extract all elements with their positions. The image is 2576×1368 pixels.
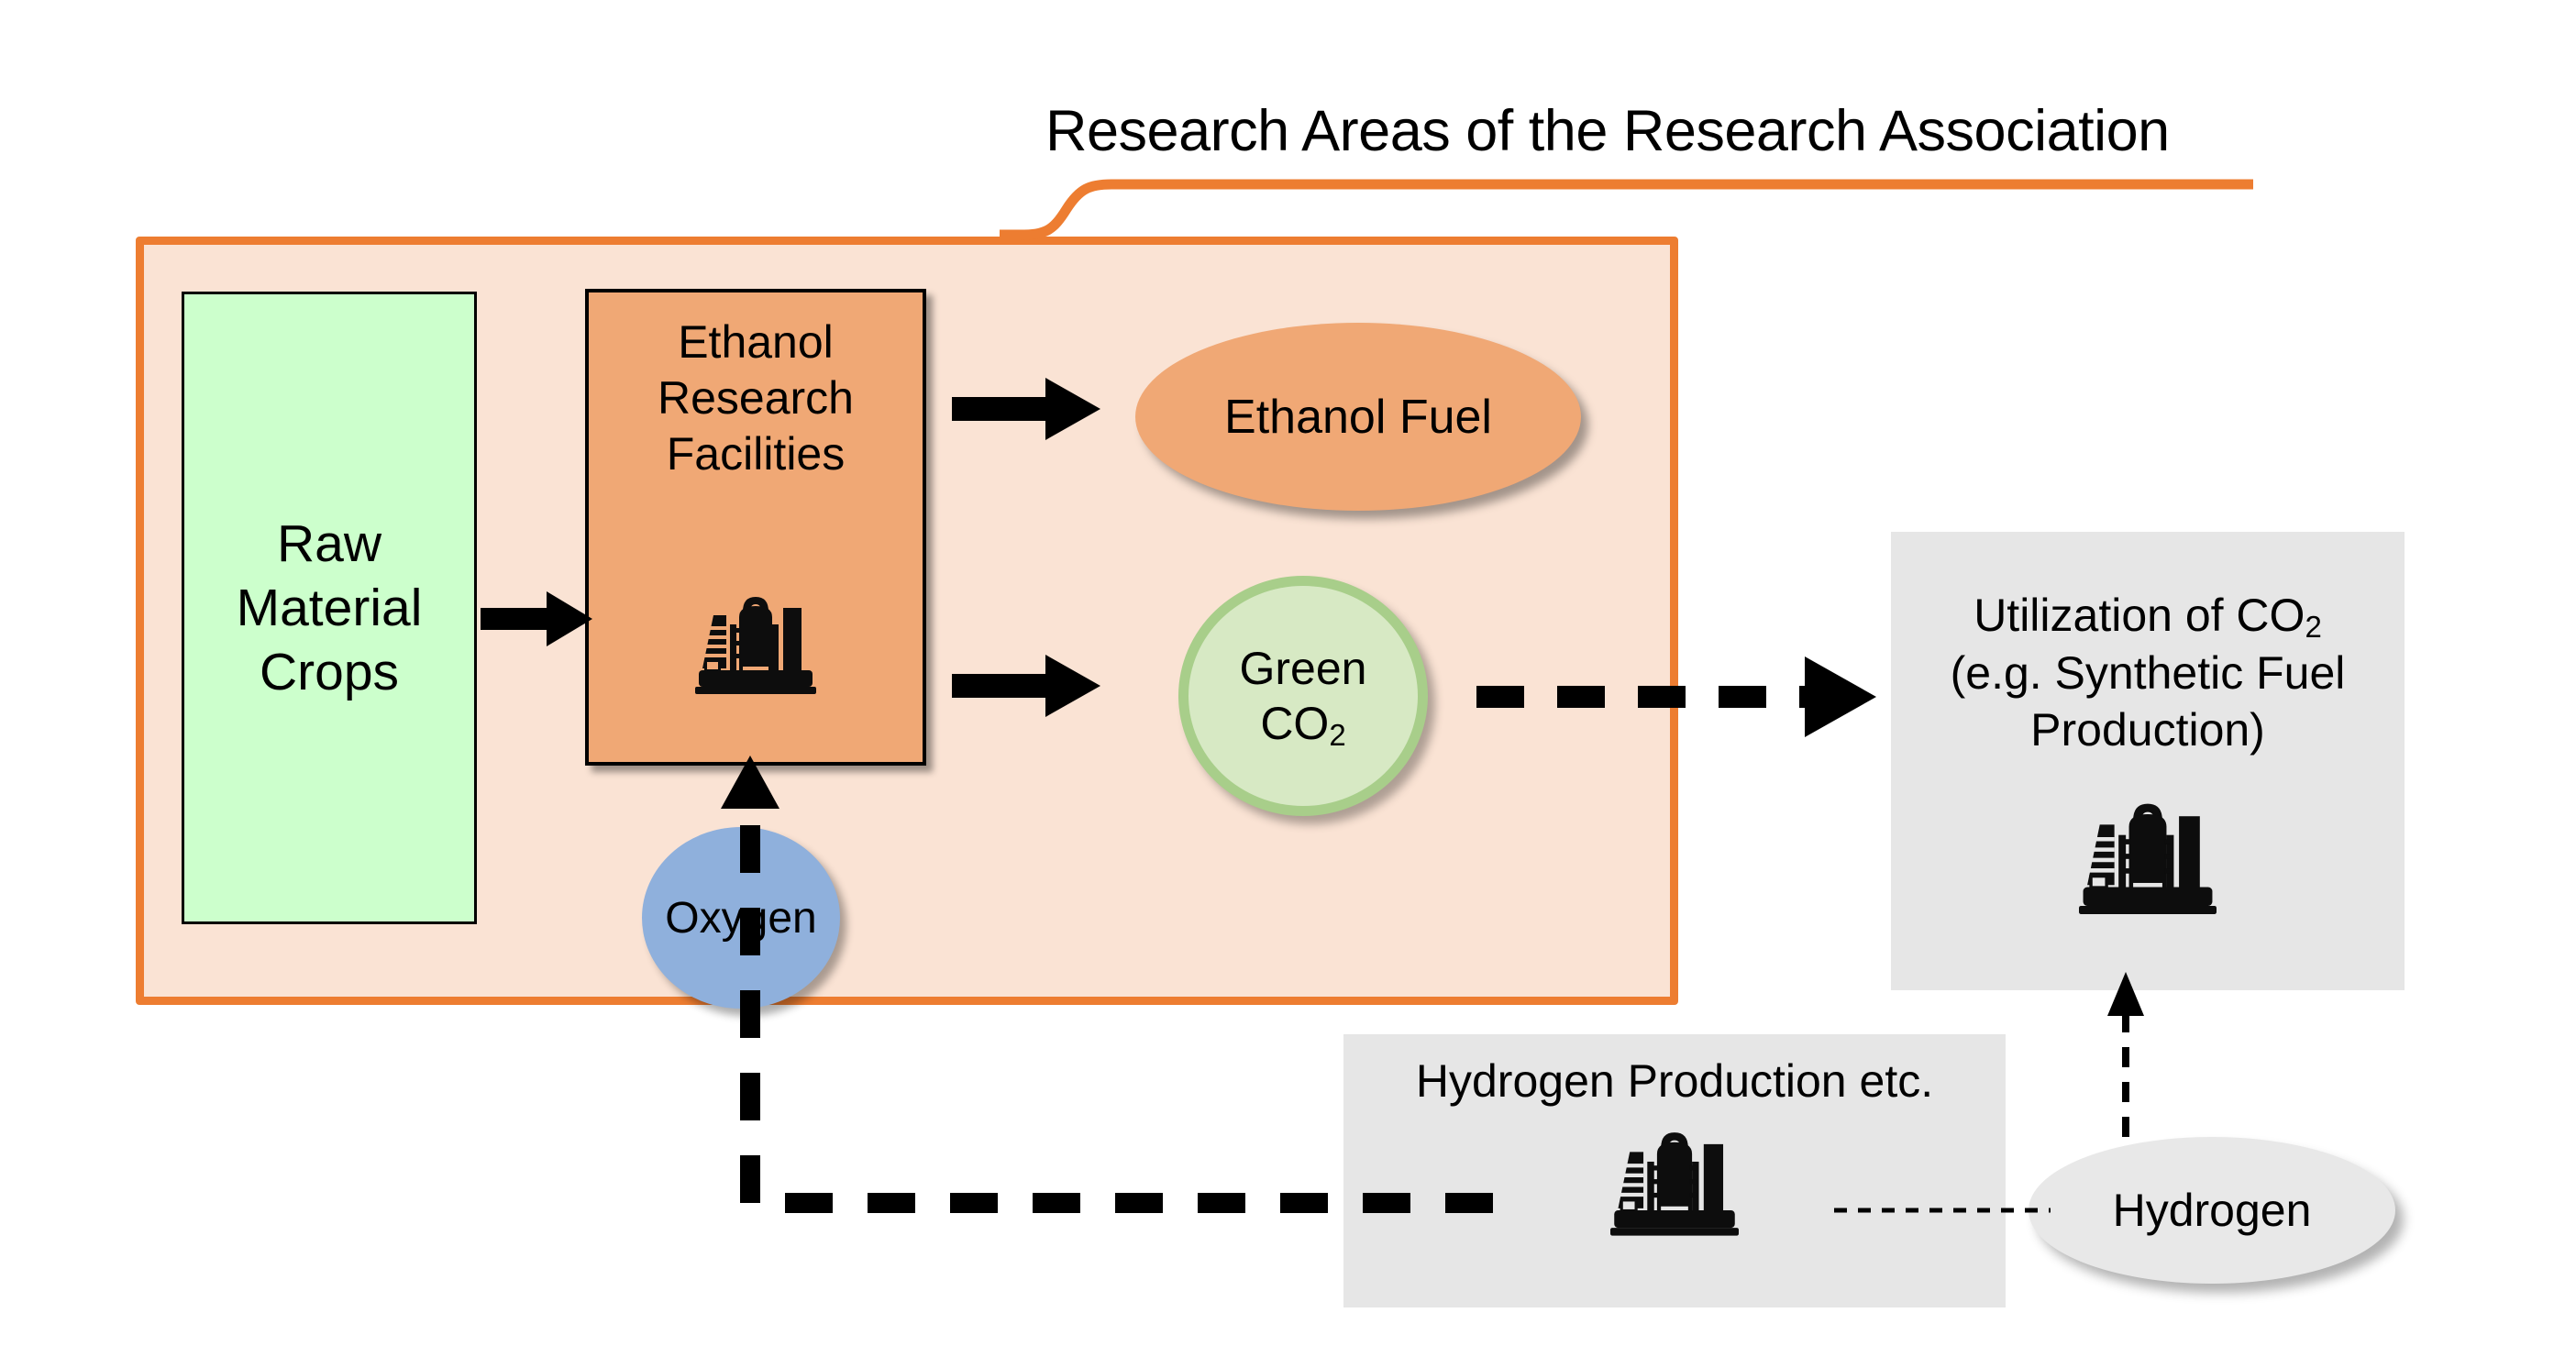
- green-co2-label: Green CO2: [1240, 641, 1367, 751]
- ethanol-fuel-label: Ethanol Fuel: [1224, 390, 1492, 445]
- raw-material-crops-label: Raw Material Crops: [237, 512, 423, 704]
- oxygen-label: Oxygen: [665, 893, 816, 943]
- ethanol-label-line3: Facilities: [667, 428, 845, 480]
- raw-material-crops-box[interactable]: Raw Material Crops: [182, 292, 477, 924]
- diagram-canvas: Research Areas of the Research Associati…: [0, 0, 2576, 1368]
- ethanol-facilities-label: Ethanol Research Facilities: [589, 314, 923, 482]
- hydrogen-label: Hydrogen: [2113, 1184, 2312, 1237]
- co2-util-line2: (e.g. Synthetic Fuel: [1951, 647, 2346, 699]
- co2-utilization-box[interactable]: Utilization of CO2 (e.g. Synthetic Fuel …: [1891, 532, 2405, 990]
- page-title: Research Areas of the Research Associati…: [1045, 101, 2329, 161]
- co2-utilization-label: Utilization of CO2 (e.g. Synthetic Fuel …: [1900, 587, 2395, 759]
- hydrogen-production-box[interactable]: Hydrogen Production etc.: [1343, 1034, 2006, 1307]
- refinery-plant-icon: [695, 584, 816, 701]
- callout-leader-line: [1000, 184, 2253, 235]
- ethanol-research-facilities-box[interactable]: Ethanol Research Facilities: [585, 289, 926, 766]
- green-co2-line1: Green: [1240, 643, 1367, 694]
- ethanol-label-line1: Ethanol: [678, 316, 834, 368]
- connector-hydrogen-to-utilization: [2107, 972, 2144, 1137]
- co2-util-subscript: 2: [2305, 610, 2321, 644]
- ethanol-fuel-ellipse[interactable]: Ethanol Fuel: [1135, 323, 1581, 511]
- ethanol-label-line2: Research: [658, 372, 854, 424]
- refinery-plant-icon: [1610, 1119, 1739, 1242]
- hydrogen-production-label: Hydrogen Production etc.: [1343, 1054, 2006, 1108]
- co2-util-line1: Utilization of CO: [1973, 590, 2305, 641]
- hydrogen-ellipse[interactable]: Hydrogen: [2029, 1137, 2395, 1284]
- green-co2-ellipse[interactable]: Green CO2: [1178, 576, 1428, 816]
- refinery-plant-icon: [2079, 789, 2217, 921]
- raw-label-line1: Raw: [277, 514, 381, 573]
- oxygen-ellipse[interactable]: Oxygen: [642, 827, 840, 1009]
- green-co2-line2: CO: [1260, 698, 1329, 749]
- co2-util-line3: Production): [2030, 704, 2265, 756]
- raw-label-line3: Crops: [260, 643, 399, 701]
- green-co2-subscript: 2: [1329, 718, 1345, 752]
- raw-label-line2: Material: [237, 579, 423, 637]
